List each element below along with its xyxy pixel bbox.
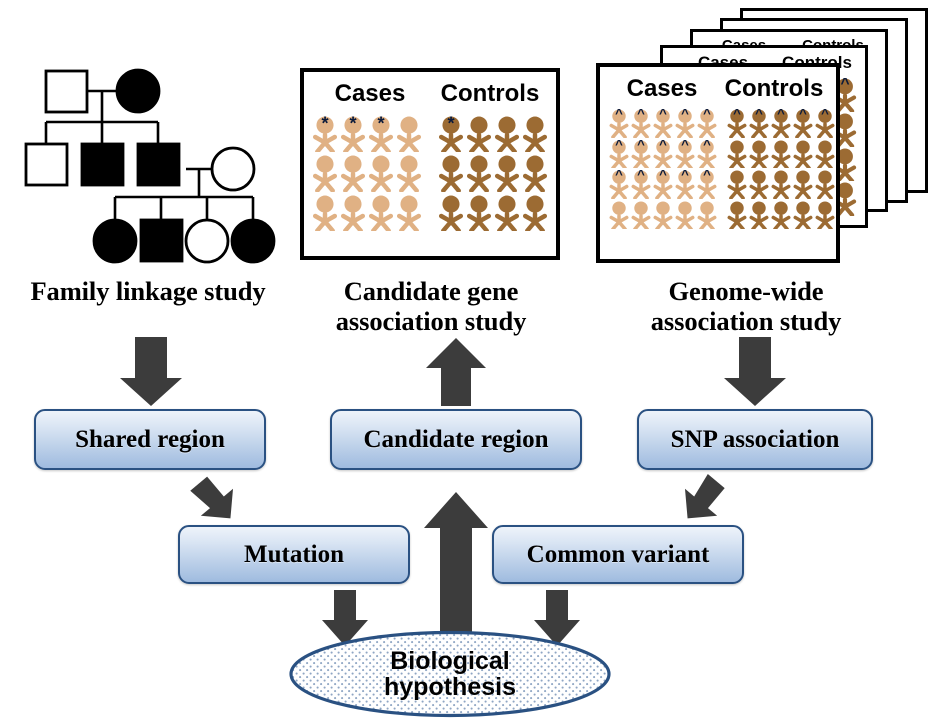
arrow-gwas-to-snp xyxy=(724,337,786,406)
ellipse-biological-hypothesis[interactable]: Biological hypothesis xyxy=(288,630,612,718)
arrow-family-to-shared xyxy=(120,337,182,406)
arrow-shared-to-mutation xyxy=(184,469,246,532)
box-snp-association[interactable]: SNP association xyxy=(637,409,873,470)
ellipse-shape xyxy=(288,630,612,718)
arrow-snp-to-common xyxy=(671,469,733,532)
box-common-variant[interactable]: Common variant xyxy=(492,525,744,584)
figure-canvas: Cases Controls ^ Cases Controls ^ Cases … xyxy=(0,0,935,722)
box-shared-region[interactable]: Shared region xyxy=(34,409,266,470)
box-mutation[interactable]: Mutation xyxy=(178,525,410,584)
arrow-candidate-up-to-study xyxy=(426,338,486,406)
box-candidate-region[interactable]: Candidate region xyxy=(330,409,582,470)
arrows-layer xyxy=(0,0,935,722)
